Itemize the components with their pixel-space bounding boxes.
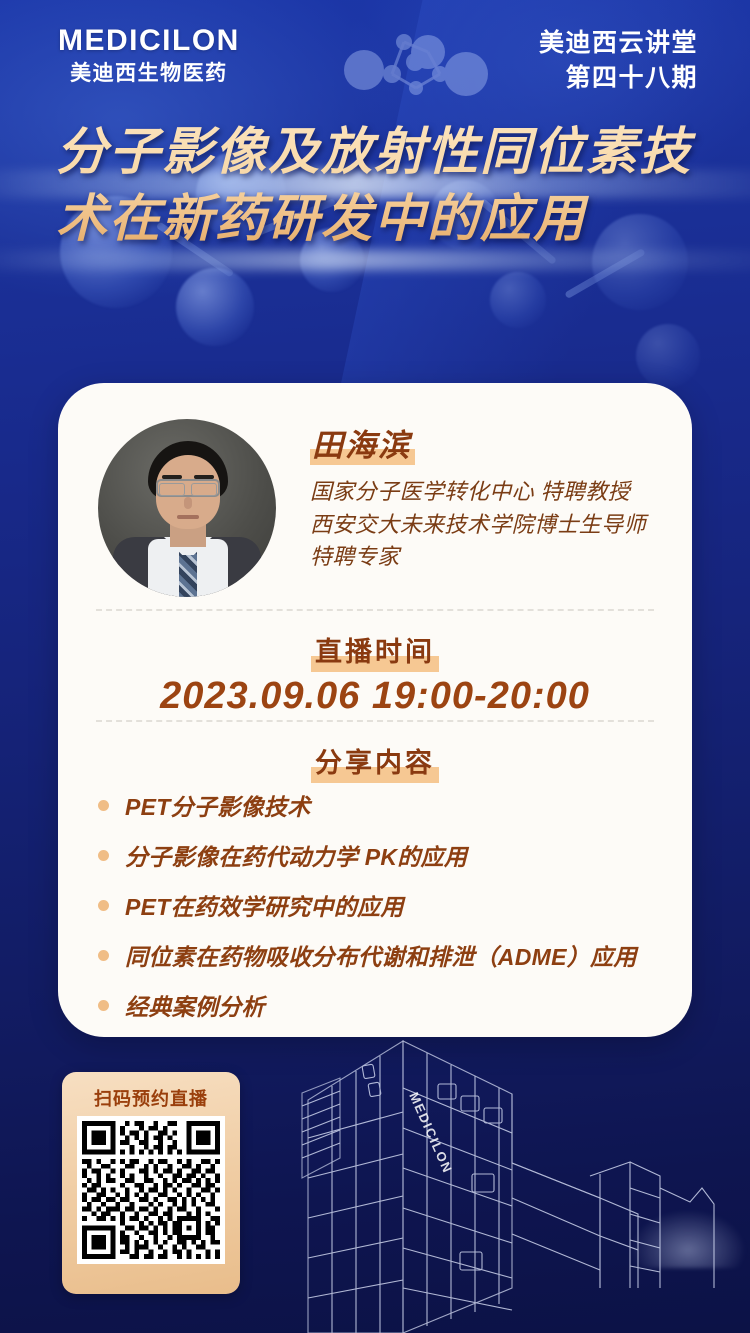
logo-text-en: MEDICILON (58, 26, 240, 56)
speaker-name: 田海滨 (310, 429, 415, 465)
avatar (98, 419, 276, 597)
glasses-icon (156, 479, 220, 497)
molecule-blob (636, 324, 700, 388)
speaker-credential: 特聘专家 (310, 541, 660, 574)
avatar-mouth (177, 515, 199, 519)
brand-logo: MEDICILON 美迪西生物医药 (58, 26, 240, 84)
speaker-info: 田海滨 国家分子医学转化中心 特聘教授 西安交大未来技术学院博士生导师 特聘专家 (310, 429, 660, 574)
bullet-icon (98, 950, 109, 961)
light-beam (0, 250, 750, 270)
list-item: 同位素在药物吸收分布代谢和排泄（ADME）应用 (98, 936, 678, 974)
speaker-credential: 国家分子医学转化中心 特聘教授 (310, 476, 660, 509)
live-time-heading-label: 直播时间 (311, 630, 439, 672)
page-title: 分子影像及放射性同位素技术在新药研发中的应用 (56, 118, 706, 253)
bullet-icon (98, 900, 109, 911)
bullet-icon (98, 800, 109, 811)
poster-root: MEDICILON 美迪西生物医药 美迪西云讲堂 第四十八期 分子影像及放 (0, 0, 750, 1333)
topic-label: 同位素在药物吸收分布代谢和排泄（ADME）应用 (125, 938, 637, 972)
qr-card[interactable]: 扫码预约直播 (62, 1072, 240, 1294)
series-line-2: 第四十八期 (539, 61, 698, 96)
info-card: 田海滨 国家分子医学转化中心 特聘教授 西安交大未来技术学院博士生导师 特聘专家… (58, 383, 692, 1037)
live-time-value: 2023.09.06 19:00-20:00 (58, 675, 692, 718)
building-wireframe-icon (300, 1038, 750, 1333)
topic-label: 分子影像在药代动力学 PK的应用 (125, 838, 467, 872)
avatar-nose (184, 497, 192, 509)
list-item: PET分子影像技术 (98, 786, 678, 824)
topic-list: PET分子影像技术 分子影像在药代动力学 PK的应用 PET在药效学研究中的应用… (98, 786, 678, 1036)
qr-code-matrix (82, 1121, 220, 1259)
topic-label: PET在药效学研究中的应用 (125, 888, 404, 922)
content-heading: 分享内容 (58, 741, 692, 783)
molecule-bond (564, 248, 645, 299)
speaker-credentials: 国家分子医学转化中心 特聘教授 西安交大未来技术学院博士生导师 特聘专家 (310, 476, 660, 574)
series-line-1: 美迪西云讲堂 (539, 26, 698, 61)
live-time-heading: 直播时间 (58, 630, 692, 672)
divider (96, 720, 654, 722)
topic-label: 经典案例分析 (125, 988, 265, 1022)
list-item: PET在药效学研究中的应用 (98, 886, 678, 924)
divider (96, 609, 654, 611)
list-item: 经典案例分析 (98, 986, 678, 1024)
content-heading-label: 分享内容 (311, 741, 439, 783)
bullet-icon (98, 850, 109, 861)
building-label: MEDICILON (406, 1090, 455, 1176)
logo-text-cn: 美迪西生物医药 (58, 63, 240, 84)
qr-card-title: 扫码预约直播 (62, 1085, 240, 1111)
molecule-blob (176, 268, 254, 346)
speaker-block: 田海滨 国家分子医学转化中心 特聘教授 西安交大未来技术学院博士生导师 特聘专家 (98, 419, 658, 604)
series-label: 美迪西云讲堂 第四十八期 (539, 26, 698, 95)
molecule-icon (320, 12, 510, 112)
poster-header: MEDICILON 美迪西生物医药 美迪西云讲堂 第四十八期 (0, 0, 750, 108)
list-item: 分子影像在药代动力学 PK的应用 (98, 836, 678, 874)
molecule-blob (490, 272, 546, 328)
topic-label: PET分子影像技术 (125, 788, 310, 822)
bullet-icon (98, 1000, 109, 1011)
qr-code-icon[interactable] (77, 1116, 225, 1264)
speaker-credential: 西安交大未来技术学院博士生导师 (310, 509, 660, 542)
bush-icon (628, 1208, 748, 1268)
